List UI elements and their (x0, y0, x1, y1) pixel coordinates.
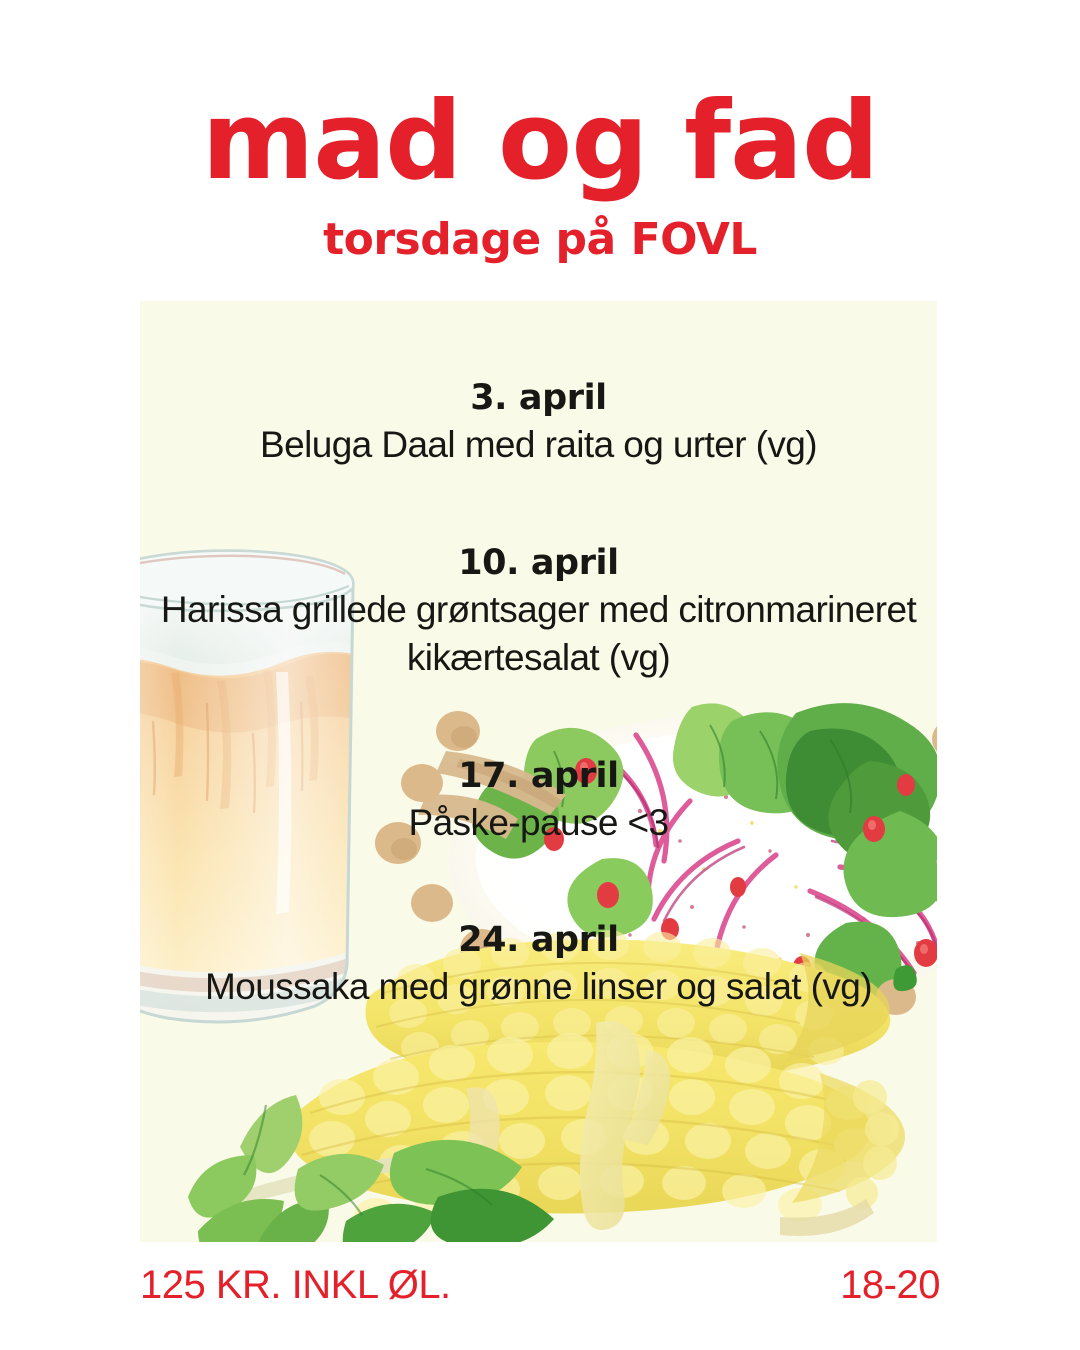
time-label: 18-20 (840, 1262, 940, 1308)
page-title: mad og fad (0, 88, 1080, 196)
menu-entry-dish: Harissa grillede grøntsager med citronma… (154, 586, 923, 682)
menu-entry: 10. april Harissa grillede grøntsager me… (154, 540, 923, 682)
menu-entry: 3. april Beluga Daal med raita og urter … (154, 375, 923, 469)
page-subtitle: torsdage på FOVL (0, 218, 1080, 262)
menu-entry-dish: Moussaka med grønne linser og salat (vg) (154, 963, 923, 1011)
menu-entry-list: 3. april Beluga Daal med raita og urter … (140, 301, 937, 1242)
menu-entry: 24. april Moussaka med grønne linser og … (154, 917, 923, 1011)
menu-entry-date: 3. april (154, 375, 923, 421)
poster-footer: 125 KR. INKL ØL. 18-20 (140, 1262, 940, 1322)
menu-entry: 17. april Påske-pause <3 (154, 753, 923, 847)
menu-entry-date: 24. april (154, 917, 923, 963)
menu-entry-dish: Påske-pause <3 (154, 799, 923, 847)
poster-header: mad og fad torsdage på FOVL (0, 0, 1080, 300)
menu-entry-dish: Beluga Daal med raita og urter (vg) (154, 421, 923, 469)
price-label: 125 KR. INKL ØL. (140, 1262, 451, 1308)
menu-entry-date: 10. april (154, 540, 923, 586)
menu-panel: 3. april Beluga Daal med raita og urter … (140, 301, 937, 1242)
menu-entry-date: 17. april (154, 753, 923, 799)
